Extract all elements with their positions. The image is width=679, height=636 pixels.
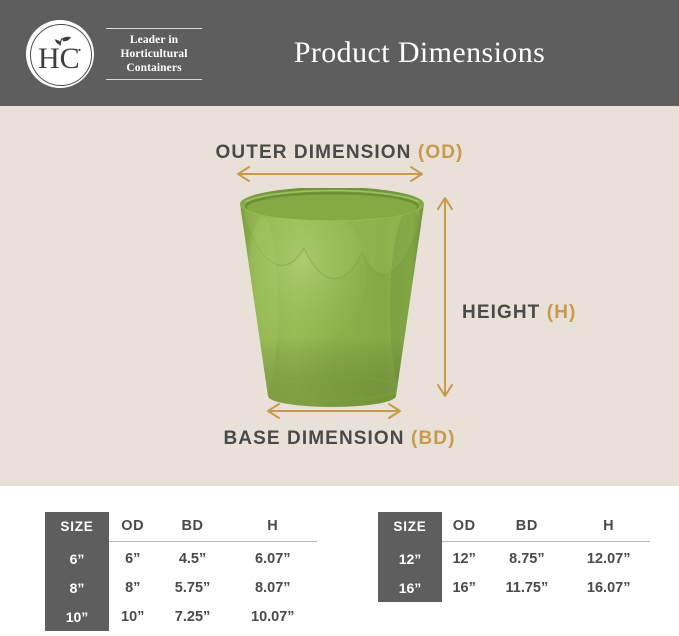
cell-size: 16” [378,573,442,602]
cell-od: 16” [442,573,486,602]
cell-size: 10” [45,602,109,631]
cell-size: 6” [45,544,109,573]
cell-size: 12” [378,544,442,573]
cell-bd: 4.5” [157,544,229,573]
column-header-od: OD [109,512,157,541]
hc-monogram-icon: HC [37,32,83,76]
cell-size: 8” [45,573,109,602]
cell-h: 16.07” [567,573,650,602]
cell-bd: 5.75” [157,573,229,602]
spec-table-small-sizes: SIZE OD BD H 6” 6” 4.5” 6.07” 8” [45,512,317,631]
table-row: 8” 8” 5.75” 8.07” [45,573,317,602]
column-header-h: H [567,512,650,541]
cell-h: 8.07” [229,573,317,602]
table-header-row: SIZE OD BD H [378,512,650,541]
column-header-h: H [229,512,317,541]
column-header-bd: BD [157,512,229,541]
table-header-row: SIZE OD BD H [45,512,317,541]
spec-table-large-sizes: SIZE OD BD H 12” 12” 8.75” 12.07” 16” [378,512,650,602]
height-arrow [0,106,679,486]
column-header-od: OD [442,512,486,541]
cell-bd: 7.25” [157,602,229,631]
page-title: Product Dimensions [0,0,679,106]
table-row: 12” 12” 8.75” 12.07” [378,544,650,573]
cell-od: 8” [109,573,157,602]
registered-mark-icon [78,49,80,51]
product-dimensions-infographic: HC Leader in Horticultural Containers Pr… [0,0,679,636]
cell-od: 12” [442,544,486,573]
cell-h: 6.07” [229,544,317,573]
table-row: 16” 16” 11.75” 16.07” [378,573,650,602]
column-header-size: SIZE [45,512,109,541]
dimension-diagram: OUTER DIMENSION (OD) BASE DIMENSION (BD)… [0,106,679,486]
column-header-bd: BD [486,512,567,541]
logo-monogram-text: HC [38,42,80,75]
specification-tables: SIZE OD BD H 6” 6” 4.5” 6.07” 8” [0,500,679,636]
cell-h: 12.07” [567,544,650,573]
cell-od: 6” [109,544,157,573]
cell-od: 10” [109,602,157,631]
column-header-size: SIZE [378,512,442,541]
table-row: 6” 6” 4.5” 6.07” [45,544,317,573]
table-row: 10” 10” 7.25” 10.07” [45,602,317,631]
page-header: HC Leader in Horticultural Containers Pr… [0,0,679,106]
cell-bd: 11.75” [486,573,567,602]
cell-h: 10.07” [229,602,317,631]
cell-bd: 8.75” [486,544,567,573]
